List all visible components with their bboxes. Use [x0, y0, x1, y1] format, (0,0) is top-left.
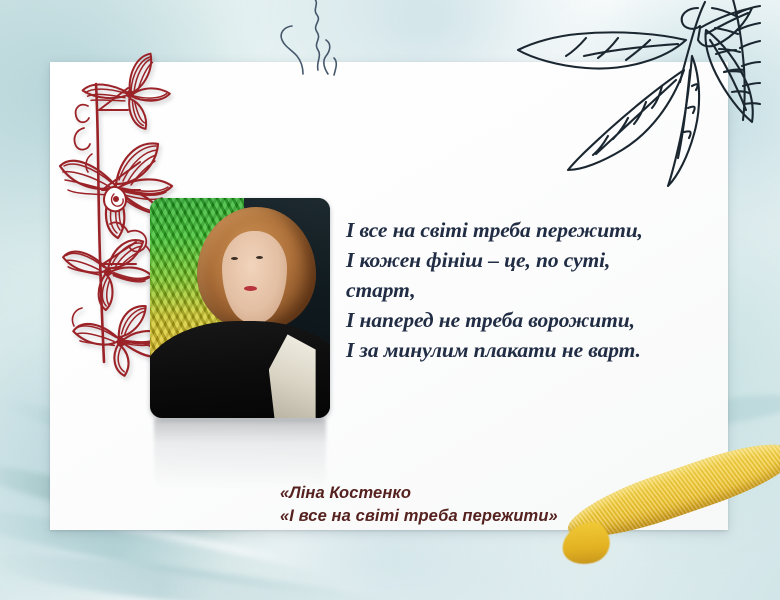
poem-line-3: старт, — [346, 276, 728, 306]
attribution-work: «І все на світі треба пережити» — [280, 505, 558, 528]
portrait-photo-frame — [150, 198, 330, 418]
attribution-author: «Ліна Костенко — [280, 482, 558, 505]
portrait-reflection — [154, 419, 326, 489]
poem-line-2: І кожен фініш – це, по суті, — [346, 246, 728, 276]
poem-text: І все на світі треба пережити, І кожен ф… — [346, 216, 728, 366]
attribution-block: «Ліна Костенко «І все на світі треба пер… — [280, 482, 558, 529]
poem-line-5: І за минулим плакати не варт. — [346, 336, 728, 366]
portrait-photo — [150, 198, 330, 418]
slide-canvas: І все на світі треба пережити, І кожен ф… — [0, 0, 780, 600]
poem-line-4: І наперед не треба ворожити, — [346, 306, 728, 336]
poem-line-1: І все на світі треба пережити, — [346, 216, 728, 246]
portrait-lips — [244, 286, 257, 291]
